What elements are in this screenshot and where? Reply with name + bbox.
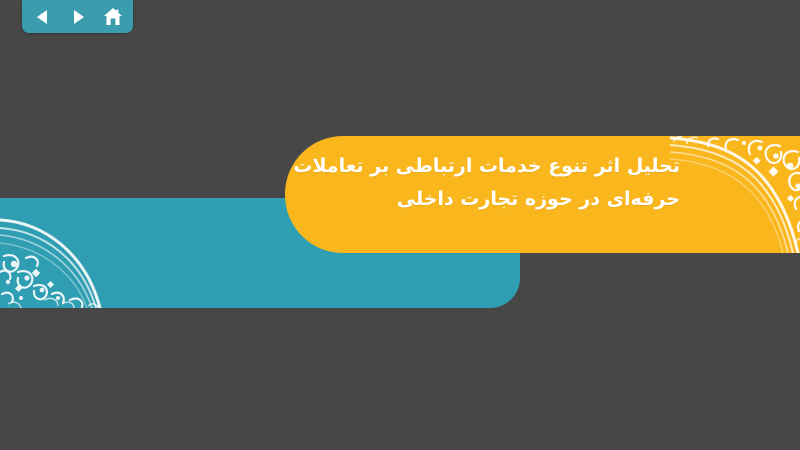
home-icon: [103, 7, 123, 27]
slide-title-line-1: تحلیل اثر تنوع خدمات ارتباطی بر تعاملات: [320, 150, 680, 183]
teal-banner-arabesque-ornament: [0, 212, 130, 308]
triangle-left-icon: [34, 8, 52, 26]
next-slide-button[interactable]: [67, 6, 89, 28]
slide-title: تحلیل اثر تنوع خدمات ارتباطی بر تعاملات …: [320, 150, 680, 216]
slide-navigation-bar[interactable]: [22, 0, 133, 33]
previous-slide-button[interactable]: [32, 6, 54, 28]
yellow-title-banner: تحلیل اثر تنوع خدمات ارتباطی بر تعاملات …: [285, 136, 800, 253]
yellow-banner-arabesque-ornament: [670, 136, 800, 253]
slide-title-line-2: حرفه‌ای در حوزه تجارت داخلی: [320, 183, 680, 216]
home-slide-button[interactable]: [102, 6, 124, 28]
presentation-slide: تحلیل اثر تنوع خدمات ارتباطی بر تعاملات …: [0, 0, 800, 450]
triangle-right-icon: [69, 8, 87, 26]
